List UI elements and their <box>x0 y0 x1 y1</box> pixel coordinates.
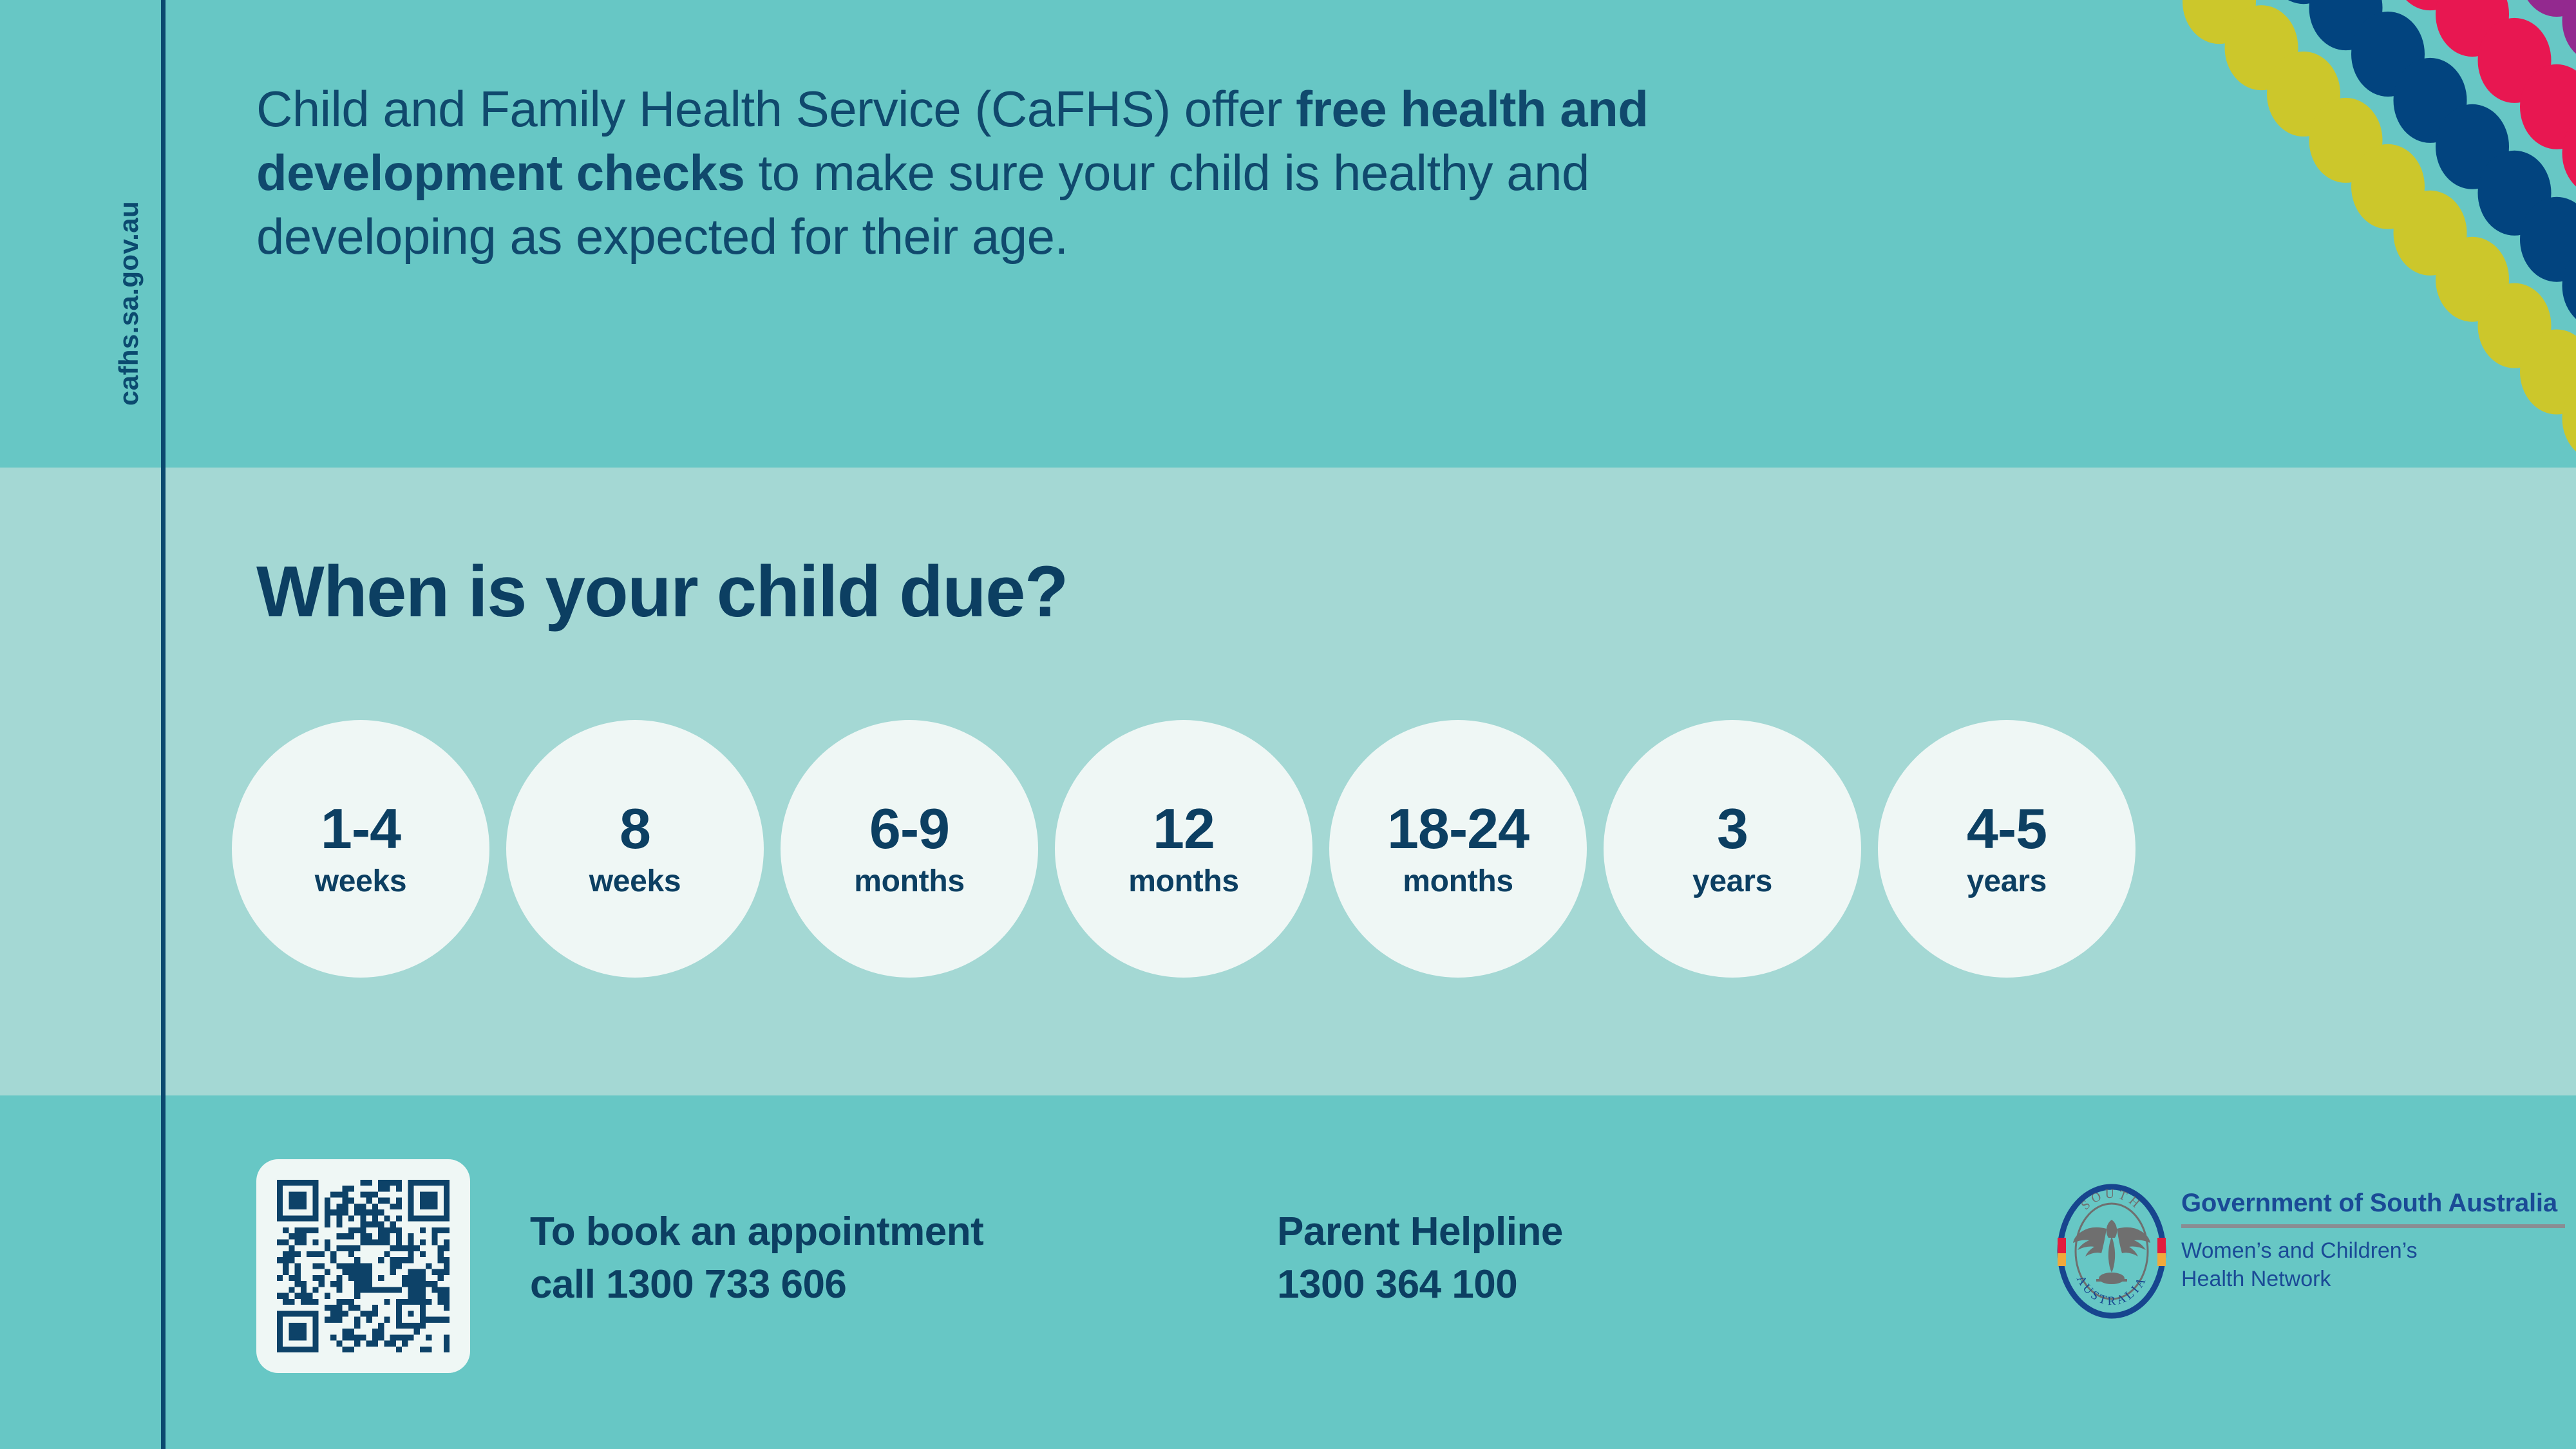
schedule-circle-value: 3 <box>1717 800 1748 857</box>
schedule-circle-unit: years <box>1692 866 1772 897</box>
booking-line-2[interactable]: call 1300 733 606 <box>530 1258 983 1311</box>
helpline-contact: Parent Helpline 1300 364 100 <box>1277 1206 1563 1311</box>
schedule-circle-unit: weeks <box>589 866 681 897</box>
website-url-vertical[interactable]: cafhs.sa.gov.au <box>109 0 148 406</box>
schedule-circle[interactable]: 18-24months <box>1329 720 1587 978</box>
sa-government-logo: SOUTH AUSTRALIA <box>2056 1184 2565 1322</box>
schedule-circle-value: 6-9 <box>869 800 949 857</box>
schedule-circle-unit: years <box>1967 866 2047 897</box>
schedule-circle-row: 1-4weeks8weeks6-9months12months18-24mont… <box>232 720 2524 978</box>
logo-divider <box>2181 1224 2565 1228</box>
schedule-circle-unit: months <box>854 866 965 897</box>
schedule-circle-unit: weeks <box>315 866 407 897</box>
schedule-circle[interactable]: 6-9months <box>781 720 1038 978</box>
helpline-line-2[interactable]: 1300 364 100 <box>1277 1258 1563 1311</box>
vertical-divider-rule <box>161 0 166 1449</box>
intro-text-part1: Child and Family Health Service (CaFHS) … <box>256 80 1296 137</box>
logo-government-line: Government of South Australia <box>2181 1189 2565 1217</box>
helpline-line-1: Parent Helpline <box>1277 1206 1563 1258</box>
schedule-circle[interactable]: 8weeks <box>506 720 764 978</box>
schedule-circle[interactable]: 3years <box>1604 720 1861 978</box>
sa-state-crest-icon: SOUTH AUSTRALIA <box>2056 1184 2167 1322</box>
schedule-circle-value: 18-24 <box>1387 800 1529 857</box>
schedule-circle-value: 1-4 <box>321 800 401 857</box>
schedule-circle[interactable]: 4-5years <box>1878 720 2136 978</box>
intro-paragraph: Child and Family Health Service (CaFHS) … <box>256 77 1738 269</box>
logo-text-block: Government of South Australia Women’s an… <box>2181 1184 2565 1293</box>
logo-network-line-1: Women’s and Children’s <box>2181 1236 2565 1265</box>
schedule-circle[interactable]: 12months <box>1055 720 1312 978</box>
schedule-circle[interactable]: 1-4weeks <box>232 720 489 978</box>
booking-line-1: To book an appointment <box>530 1206 983 1258</box>
schedule-circle-unit: months <box>1403 866 1513 897</box>
logo-network-line-2: Health Network <box>2181 1265 2565 1293</box>
poster-canvas: {} cafhs.sa.gov.au Child and Family Heal… <box>0 0 2576 1449</box>
booking-contact: To book an appointment call 1300 733 606 <box>530 1206 983 1311</box>
page-title: When is your child due? <box>256 552 1068 631</box>
footer: To book an appointment call 1300 733 606… <box>256 1159 2510 1372</box>
schedule-circle-value: 12 <box>1153 800 1215 857</box>
qr-code-card[interactable] <box>256 1159 470 1373</box>
schedule-circle-value: 8 <box>620 800 650 857</box>
qr-code-icon <box>277 1180 450 1352</box>
schedule-circle-value: 4-5 <box>1967 800 2047 857</box>
schedule-circle-unit: months <box>1128 866 1239 897</box>
